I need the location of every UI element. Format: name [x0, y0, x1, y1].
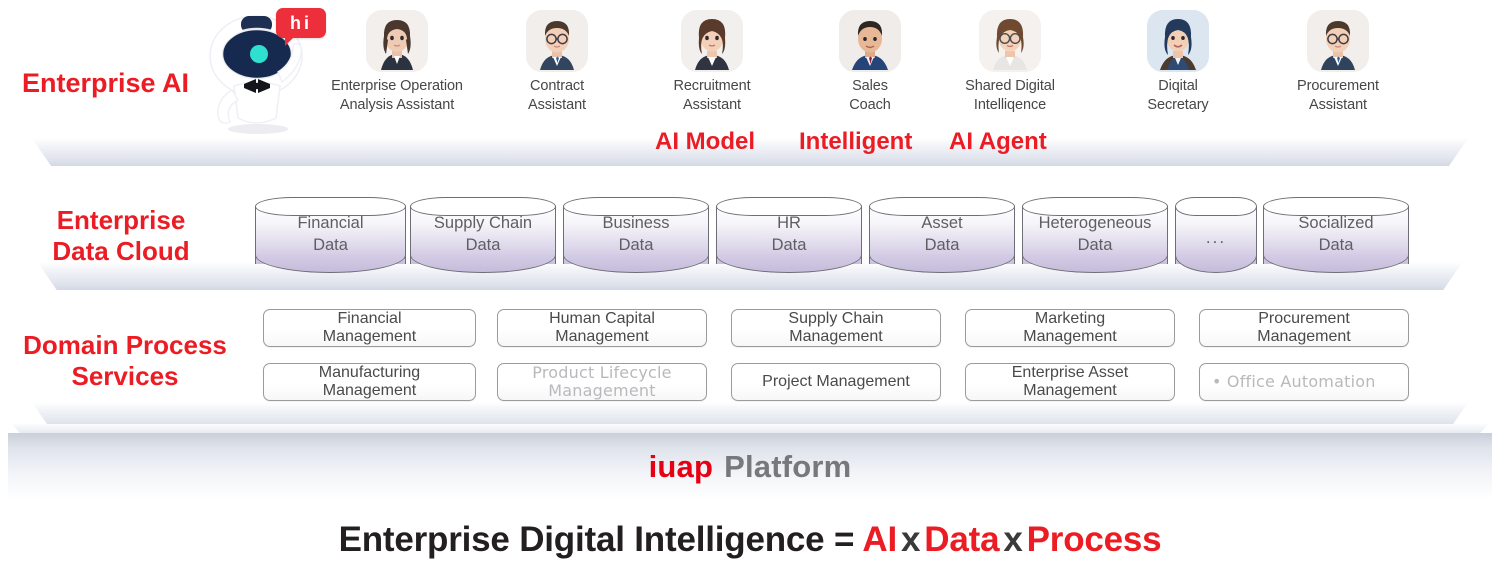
platform-top-face	[8, 424, 1492, 433]
cylinder-label-line1: Socialized	[1263, 213, 1409, 235]
cylinder-label-line1: ...	[1175, 227, 1257, 250]
cylinder-label-line2: Data	[255, 235, 406, 257]
row-title-edc-line2: Data Cloud	[6, 236, 236, 267]
service-box-text: Manufacturing Management	[319, 364, 420, 400]
service-box-text: • Office Automation	[1212, 373, 1376, 391]
agent-label: Sales Coach	[795, 77, 945, 115]
agent-enterprise-operation-analysis-assistant[interactable]: Enterprise Operation Analysis Assistant	[322, 10, 472, 115]
speech-bubble-text: hi	[290, 13, 312, 34]
data-cylinder-asset-data[interactable]: Asset Data	[869, 197, 1015, 273]
service-line1: Supply Chain	[788, 310, 883, 328]
row-title-dps-line1: Domain Process	[0, 330, 250, 361]
agent-label-line1: Shared Digital	[935, 77, 1085, 96]
cylinder-bottom	[410, 255, 556, 273]
service-line1: • Office Automation	[1212, 373, 1376, 391]
cylinder-label: Financial Data	[255, 213, 406, 257]
cylinder-label-line2: Data	[716, 235, 862, 257]
cylinder-label-line1: Financial	[255, 213, 406, 235]
service-box-text: Human Capital Management	[549, 310, 655, 346]
robot-mascot: hi	[196, 8, 328, 138]
cylinder-label-line1: Business	[563, 213, 709, 235]
cylinder-label-line2: Data	[1263, 235, 1409, 257]
agent-procurement-assistant[interactable]: Procurement Assistant	[1263, 10, 1413, 115]
avatar	[526, 10, 588, 72]
cylinder-label: Asset Data	[869, 213, 1015, 257]
service-box-text: Marketing Management	[1023, 310, 1116, 346]
architecture-diagram: Enterprise AI Enterprise Data Cloud Doma…	[0, 0, 1500, 572]
agent-label: Diqital Secretary	[1103, 77, 1253, 115]
service-line1: Financial	[323, 310, 416, 328]
cylinder-label: Socialized Data	[1263, 213, 1409, 257]
agent-contract-assistant[interactable]: Contract Assistant	[482, 10, 632, 115]
cylinder-label-line1: Supply Chain	[410, 213, 556, 235]
agent-label: Recruitment Assistant	[637, 77, 787, 115]
avatar	[839, 10, 901, 72]
agent-label-line1: Diqital	[1103, 77, 1253, 96]
agent-label-line2: Secretary	[1103, 96, 1253, 115]
cylinder-bottom	[1263, 255, 1409, 273]
agent-label-line1: Sales	[795, 77, 945, 96]
cylinder-label-line2: Data	[869, 235, 1015, 257]
service-line2: Management	[323, 328, 416, 346]
service-line2: Management	[319, 382, 420, 400]
service-box-text: Project Management	[762, 373, 910, 391]
agent-label-line2: Analysis Assistant	[322, 96, 472, 115]
service-box-office-automation[interactable]: • Office Automation	[1199, 363, 1409, 401]
service-line1: Project Management	[762, 373, 910, 391]
service-line1: Human Capital	[549, 310, 655, 328]
row-title-edc-line1: Enterprise	[6, 205, 236, 236]
agent-label: Enterprise Operation Analysis Assistant	[322, 77, 472, 115]
service-line1: Manufacturing	[319, 364, 420, 382]
service-line1: Product Lifecycle	[532, 364, 671, 382]
tagline-separator-2: x	[999, 520, 1026, 559]
tagline: Enterprise Digital Intelligence = AIxDat…	[0, 520, 1500, 560]
service-line2: Management	[532, 382, 671, 400]
data-cylinder-hr-data[interactable]: HR Data	[716, 197, 862, 273]
service-box-manufacturing-management[interactable]: Manufacturing Management	[263, 363, 476, 401]
agent-digital-secretary[interactable]: Diqital Secretary	[1103, 10, 1253, 115]
cylinder-bottom	[869, 255, 1015, 273]
data-cylinder-heterogeneous-data[interactable]: Heterogeneous Data	[1022, 197, 1168, 273]
service-line1: Procurement	[1257, 310, 1350, 328]
service-line1: Enterprise Asset	[1012, 364, 1129, 382]
row-title-dps-line2: Services	[0, 361, 250, 392]
speech-bubble-hi: hi	[276, 8, 326, 38]
agent-label-line2: Assistant	[1263, 96, 1413, 115]
cylinder-label-line1: HR	[716, 213, 862, 235]
agent-label: Contract Assistant	[482, 77, 632, 115]
cylinder-label-line1: Heterogeneous	[1022, 213, 1168, 235]
agent-shared-digital-intelligence[interactable]: Shared Digital Intelliqence	[935, 10, 1085, 115]
row-title-enterprise-data-cloud: Enterprise Data Cloud	[6, 205, 236, 266]
female-avatar-glasses-icon	[979, 10, 1041, 72]
platform-brand: iuap	[649, 449, 714, 485]
cylinder-label: ...	[1175, 227, 1257, 250]
agent-label-line2: Coach	[795, 96, 945, 115]
avatar	[1147, 10, 1209, 72]
agent-label-line1: Contract	[482, 77, 632, 96]
agent-label-line1: Procurement	[1263, 77, 1413, 96]
cylinder-bottom	[1022, 255, 1168, 273]
service-box-text: Procurement Management	[1257, 310, 1350, 346]
cylinder-bottom	[1175, 255, 1257, 273]
platform-word: Platform	[724, 449, 851, 485]
avatar	[1307, 10, 1369, 72]
avatar	[366, 10, 428, 72]
agent-label: Shared Digital Intelliqence	[935, 77, 1085, 115]
tagline-separator-1: x	[897, 520, 924, 559]
service-line2: Management	[1012, 382, 1129, 400]
service-box-supply-chain-management[interactable]: Supply Chain Management	[731, 309, 941, 347]
service-line2: Management	[788, 328, 883, 346]
service-box-marketing-management[interactable]: Marketing Management	[965, 309, 1175, 347]
service-box-text: Enterprise Asset Management	[1012, 364, 1129, 400]
cylinder-label: Business Data	[563, 213, 709, 257]
tagline-term-ai: AI	[862, 520, 897, 559]
row-title-domain-process-services: Domain Process Services	[0, 330, 250, 391]
agent-label-line2: Assistant	[482, 96, 632, 115]
tagline-term-process: Process	[1027, 520, 1162, 559]
male-avatar-glasses-2-icon	[1307, 10, 1369, 72]
data-cylinder-supply-chain-data[interactable]: Supply Chain Data	[410, 197, 556, 273]
service-box-financial-management[interactable]: Financial Management	[263, 309, 476, 347]
female-avatar-bob-icon	[681, 10, 743, 72]
service-line2: Management	[1257, 328, 1350, 346]
service-line2: Management	[1023, 328, 1116, 346]
cylinder-label-line2: Data	[410, 235, 556, 257]
service-box-enterprise-asset-management[interactable]: Enterprise Asset Management	[965, 363, 1175, 401]
service-box-project-management[interactable]: Project Management	[731, 363, 941, 401]
agent-label-line1: Enterprise Operation	[322, 77, 472, 96]
male-avatar-suit-icon	[839, 10, 901, 72]
platform-label: iuap Platform	[8, 433, 1492, 500]
service-box-text: Supply Chain Management	[788, 310, 883, 346]
female-avatar-dark-hair-icon	[366, 10, 428, 72]
subtag-ai-model: AI Model	[655, 128, 755, 156]
cylinder-label: Supply Chain Data	[410, 213, 556, 257]
service-line1: Marketing	[1023, 310, 1116, 328]
cylinder-bottom	[255, 255, 406, 273]
cylinder-label-line2: Data	[563, 235, 709, 257]
service-box-human-capital-management[interactable]: Human Capital Management	[497, 309, 707, 347]
data-cylinder-business-data[interactable]: Business Data	[563, 197, 709, 273]
agent-label-line1: Recruitment	[637, 77, 787, 96]
female-avatar-smiling-icon	[1147, 10, 1209, 72]
cylinder-label-line2: Data	[1022, 235, 1168, 257]
agent-recruitment-assistant[interactable]: Recruitment Assistant	[637, 10, 787, 115]
agent-sales-coach[interactable]: Sales Coach	[795, 10, 945, 115]
row-title-enterprise-ai-text: Enterprise AI	[22, 68, 189, 98]
service-box-text: Product Lifecycle Management	[532, 364, 671, 400]
service-box-product-lifecycle-management[interactable]: Product Lifecycle Management	[497, 363, 707, 401]
subtag-ai-agent: AI Agent	[949, 128, 1047, 156]
avatar	[681, 10, 743, 72]
cylinder-bottom	[563, 255, 709, 273]
male-avatar-glasses-icon	[526, 10, 588, 72]
cylinder-top	[1175, 197, 1257, 216]
agent-label: Procurement Assistant	[1263, 77, 1413, 115]
iuap-platform-slab[interactable]: iuap Platform	[8, 424, 1492, 500]
data-cylinder-ellipsis[interactable]: ...	[1175, 197, 1257, 273]
avatar	[979, 10, 1041, 72]
cylinder-label-line1: Asset	[869, 213, 1015, 235]
tagline-prefix: Enterprise Digital Intelligence =	[339, 520, 863, 559]
agent-label-line2: Intelliqence	[935, 96, 1085, 115]
service-box-procurement-management[interactable]: Procurement Management	[1199, 309, 1409, 347]
service-line2: Management	[549, 328, 655, 346]
tagline-term-data: Data	[924, 520, 999, 559]
cylinder-bottom	[716, 255, 862, 273]
data-cylinder-financial-data[interactable]: Financial Data	[255, 197, 406, 273]
service-box-text: Financial Management	[323, 310, 416, 346]
cylinder-label: HR Data	[716, 213, 862, 257]
cylinder-label: Heterogeneous Data	[1022, 213, 1168, 257]
subtag-intelligent: Intelligent	[799, 128, 912, 156]
agent-label-line2: Assistant	[637, 96, 787, 115]
data-cylinder-socialized-data[interactable]: Socialized Data	[1263, 197, 1409, 273]
